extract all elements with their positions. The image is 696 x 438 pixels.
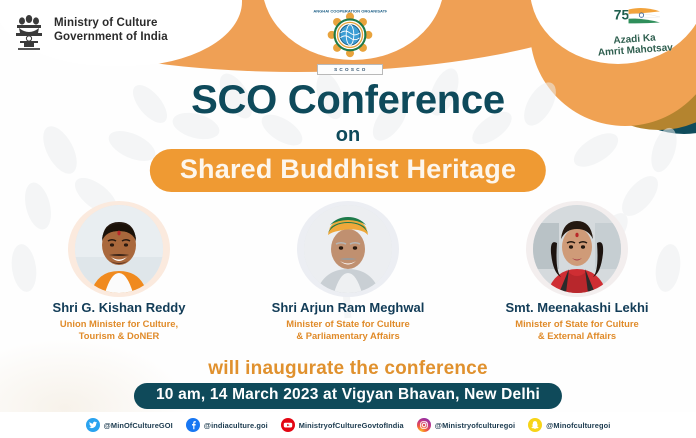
- dignitary-role-line1: Minister of State for Culture: [286, 318, 409, 329]
- india-state-emblem-icon: [12, 10, 46, 52]
- ministry-name: Ministry of Culture: [54, 17, 168, 31]
- sco-logo: SHANGHAI COOPERATION ORGANISATION S C O …: [313, 6, 387, 68]
- sco-logo-strip: S C O S C O: [317, 64, 383, 75]
- avatar: [75, 205, 163, 293]
- dignitary-role-line1: Union Minister for Culture,: [60, 318, 178, 329]
- social-handle: @indiaculture.goi: [204, 421, 268, 430]
- dignitaries-row: Shri G. Kishan Reddy Union Minister for …: [0, 205, 696, 342]
- azadi-tricolour-icon: 75: [582, 4, 688, 28]
- dignitary-role: Minister of State for Culture & Parliame…: [246, 318, 451, 342]
- social-handle: MinistryofCultureGovtofIndia: [299, 421, 404, 430]
- dignitary-name: Shri G. Kishan Reddy: [17, 301, 222, 316]
- avatar: [533, 205, 621, 293]
- snapchat-icon: [528, 418, 542, 432]
- social-handle: @Ministryofculturegoi: [435, 421, 515, 430]
- dignitary-role-line1: Minister of State for Culture: [515, 318, 638, 329]
- social-link-instagram[interactable]: @Ministryofculturegoi: [417, 418, 515, 432]
- youtube-icon: [281, 418, 295, 432]
- dignitary-card: Shri G. Kishan Reddy Union Minister for …: [17, 205, 222, 342]
- ministry-branding: Ministry of Culture Government of India: [12, 10, 168, 52]
- poster-root: Ministry of Culture Government of India …: [0, 0, 696, 438]
- portrait-meenakashi-lekhi-icon: [533, 205, 621, 293]
- conference-theme-banner: Shared Buddhist Heritage: [150, 149, 546, 192]
- dignitary-role: Minister of State for Culture & External…: [475, 318, 680, 342]
- event-details-banner: 10 am, 14 March 2023 at Vigyan Bhavan, N…: [134, 383, 562, 409]
- twitter-icon: [86, 418, 100, 432]
- avatar-photo: [75, 205, 163, 293]
- dignitary-role-line2: Tourism & DoNER: [79, 330, 160, 341]
- social-footer: @MinOfCultureGOI @indiaculture.goi Minis…: [0, 412, 696, 438]
- portrait-kishan-reddy-icon: [75, 205, 163, 293]
- dignitary-card: Smt. Meenakashi Lekhi Minister of State …: [475, 205, 680, 342]
- dignitary-role-line2: & Parliamentary Affairs: [296, 330, 399, 341]
- dignitary-name: Smt. Meenakashi Lekhi: [475, 301, 680, 316]
- azadi-ka-amrit-mahotsav-logo: 75 Azadi Ka Amrit Mahotsav: [582, 4, 688, 54]
- social-link-youtube[interactable]: MinistryofCultureGovtofIndia: [281, 418, 404, 432]
- azadi-75-mark: 75: [614, 7, 630, 23]
- dignitary-role-line2: & External Affairs: [538, 330, 616, 341]
- dignitary-name: Shri Arjun Ram Meghwal: [246, 301, 451, 316]
- social-link-snapchat[interactable]: @Minofculturegoi: [528, 418, 610, 432]
- title-connector: on: [0, 124, 696, 147]
- avatar-photo: [304, 205, 392, 293]
- dignitary-card: Shri Arjun Ram Meghwal Minister of State…: [246, 205, 451, 342]
- social-link-twitter[interactable]: @MinOfCultureGOI: [86, 418, 173, 432]
- sco-emblem-icon: SHANGHAI COOPERATION ORGANISATION: [313, 6, 387, 58]
- facebook-icon: [186, 418, 200, 432]
- instagram-icon: [417, 418, 431, 432]
- social-link-facebook[interactable]: @indiaculture.goi: [186, 418, 268, 432]
- dignitary-role: Union Minister for Culture, Tourism & Do…: [17, 318, 222, 342]
- inaugurate-text: will inaugurate the conference: [0, 358, 696, 380]
- social-handle: @Minofculturegoi: [546, 421, 610, 430]
- avatar-photo: [533, 205, 621, 293]
- portrait-arjun-ram-meghwal-icon: [304, 205, 392, 293]
- social-handle: @MinOfCultureGOI: [104, 421, 173, 430]
- conference-title: SCO Conference: [0, 78, 696, 123]
- avatar: [304, 205, 392, 293]
- government-name: Government of India: [54, 31, 168, 45]
